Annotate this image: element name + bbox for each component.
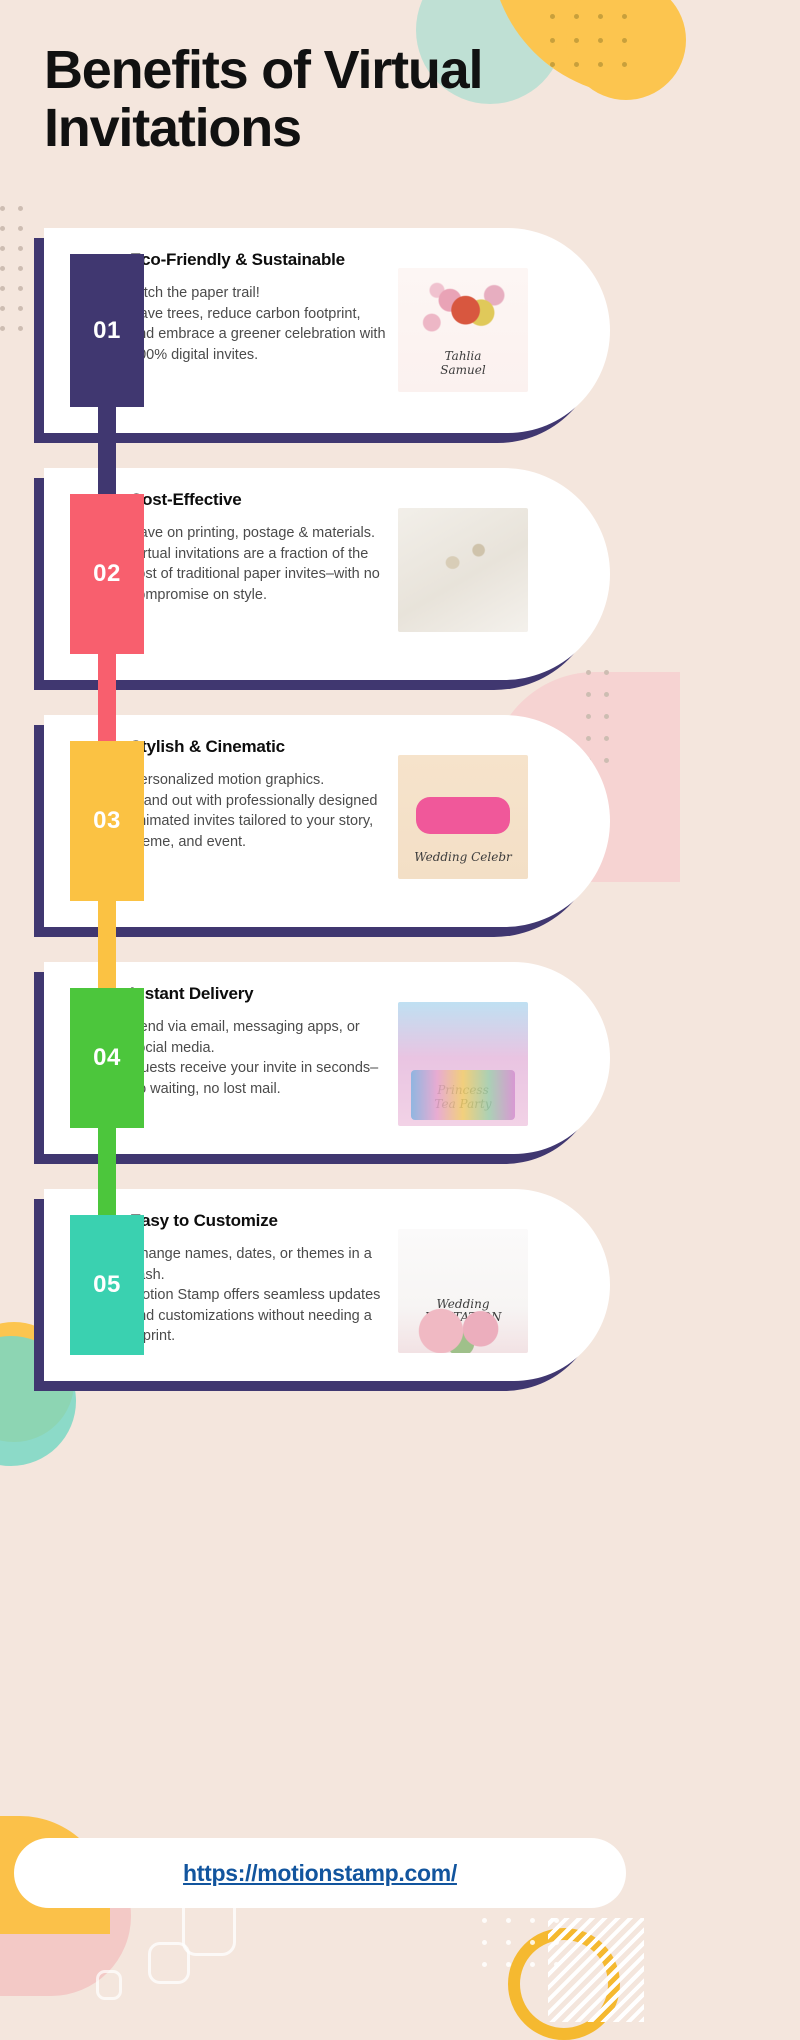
card-title: Stylish & Cinematic (130, 737, 388, 757)
watercolor-floral-wedding-invite-thumbnail: Tahlia Samuel (398, 268, 528, 392)
decor-rounded-square-a (148, 1942, 190, 1984)
thumbnail-caption: Wedding Celebr (398, 851, 528, 865)
thumbnail-caption: Tahlia Samuel (398, 350, 528, 378)
step-number-badge-04[interactable]: 04 (70, 988, 144, 1128)
step-number-label: 01 (93, 317, 121, 345)
step-number-label: 03 (93, 807, 121, 835)
step-number-badge-02[interactable]: 02 (70, 494, 144, 654)
step-number-label: 02 (93, 560, 121, 588)
card-title: Instant Delivery (130, 984, 388, 1004)
step-number-label: 04 (93, 1044, 121, 1072)
princess-tea-party-invite-thumbnail: Princess Tea Party (398, 1002, 528, 1126)
page-title: Benefits of Virtual Invitations (44, 42, 604, 158)
step-number-badge-01[interactable]: 01 (70, 254, 144, 407)
step-number-label: 05 (93, 1271, 121, 1299)
card-title: Cost-Effective (130, 490, 388, 510)
thumbnail-caption: Princess Tea Party (398, 1084, 528, 1112)
card-body-text: Save on printing, postage & materials. V… (130, 523, 388, 605)
card-body-text: Change names, dates, or themes in a flas… (130, 1244, 388, 1347)
card-body-text: Send via email, messaging apps, or socia… (130, 1017, 388, 1099)
card-body-text: Ditch the paper trail! Save trees, reduc… (130, 283, 388, 365)
decor-rounded-square-c (96, 1970, 122, 2000)
wedding-invitation-online-thumbnail: Wedding INVITATION ONLINE (398, 1229, 528, 1353)
footer-url-bar[interactable]: https://motionstamp.com/ (14, 1838, 626, 1908)
step-number-badge-05[interactable]: 05 (70, 1215, 144, 1355)
step-number-badge-03[interactable]: 03 (70, 741, 144, 901)
card-body-text: Personalized motion graphics. Stand out … (130, 770, 388, 852)
decor-hatch-pattern (548, 1918, 644, 2022)
website-link[interactable]: https://motionstamp.com/ (183, 1860, 457, 1887)
dried-florals-invite-thumbnail (398, 508, 528, 632)
card-title: Eco-Friendly & Sustainable (130, 250, 388, 270)
decor-yellow-ring (508, 1928, 620, 2040)
thumbnail-caption: Wedding INVITATION ONLINE (398, 1298, 528, 1339)
decor-dot-grid-footer (482, 1918, 574, 1974)
wedding-celebration-animated-invite-thumbnail: Wedding Celebr (398, 755, 528, 879)
card-title: Easy to Customize (130, 1211, 388, 1231)
